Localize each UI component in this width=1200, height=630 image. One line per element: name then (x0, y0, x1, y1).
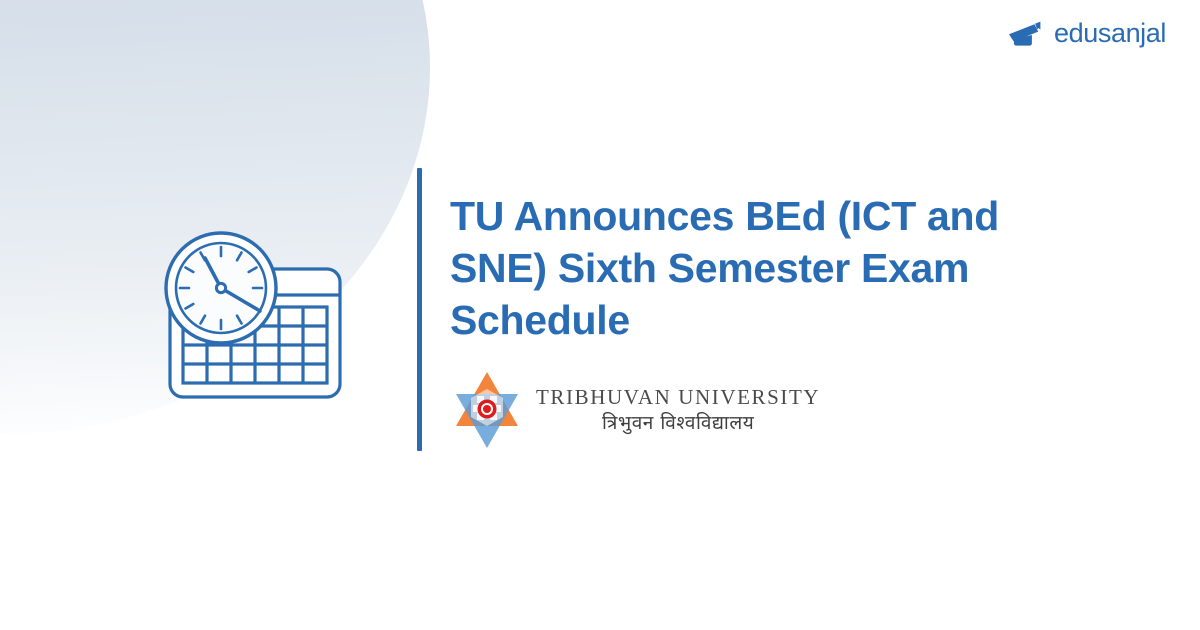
brand-wordmark: edusanjal (1054, 20, 1166, 47)
graduation-cap-icon (1008, 21, 1050, 47)
calendar-clock-illustration (148, 225, 363, 425)
university-name-block: TRIBHUVAN UNIVERSITY त्रिभुवन विश्वविद्य… (536, 386, 820, 435)
headline-accent-bar (417, 168, 422, 451)
poster-canvas: edusanjal (0, 0, 1200, 630)
university-name-np: त्रिभुवन विश्वविद्यालय (536, 412, 820, 435)
university-lockup: TRIBHUVAN UNIVERSITY त्रिभुवन विश्वविद्य… (452, 368, 820, 452)
calendar-clock-icon (148, 225, 363, 425)
university-name-en: TRIBHUVAN UNIVERSITY (536, 386, 820, 409)
tribhuvan-university-emblem-icon (452, 368, 522, 452)
edusanjal-logo[interactable]: edusanjal (1008, 20, 1166, 47)
page-title: TU Announces BEd (ICT and SNE) Sixth Sem… (450, 190, 1040, 346)
